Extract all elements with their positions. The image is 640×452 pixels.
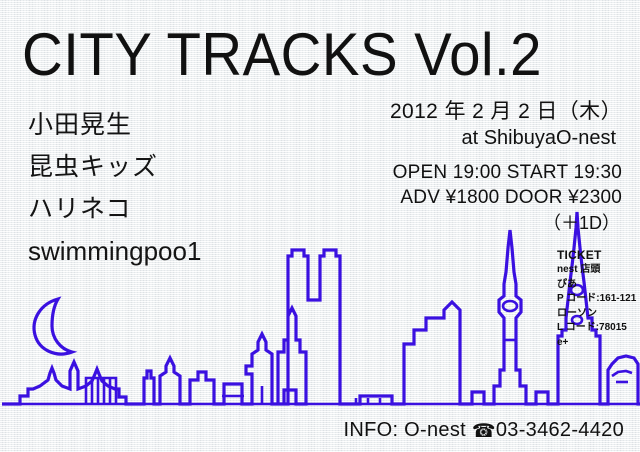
- list-item: ハリネコ: [28, 188, 328, 230]
- ticket-code: P コード:161-121: [557, 292, 640, 307]
- event-venue: at ShibuyaO-nest: [390, 125, 622, 152]
- event-drink-note: （＋1D）: [393, 210, 622, 236]
- ticket-outlet: e+: [557, 336, 640, 351]
- page-title: CITY TRACKS Vol.2: [22, 24, 542, 86]
- event-date: 2012 年 2 月 2 日（木）: [390, 98, 622, 125]
- footer-contact: INFO: O-nest ☎03-3462-4420: [344, 418, 625, 444]
- skyline-low-rise: [222, 396, 380, 404]
- skyline-tower-rings: [503, 301, 517, 340]
- event-prices: ADV ¥1800 DOOR ¥2300: [393, 185, 622, 210]
- event-price-block: OPEN 19:00 START 19:30 ADV ¥1800 DOOR ¥2…: [393, 160, 622, 236]
- ticket-info-block: TICKET nest 店頭 ぴあ P コード:161-121 ローソン L コ…: [557, 248, 640, 350]
- ticket-heading: TICKET: [557, 248, 640, 263]
- ticket-code: L コード:78015: [557, 321, 640, 336]
- telephone-icon: ☎: [472, 421, 496, 442]
- ticket-outlet: nest 店頭: [557, 263, 640, 278]
- info-label: INFO: O-nest: [344, 419, 467, 441]
- skyline-detail-left: [86, 378, 116, 404]
- list-item: 小田晃生: [28, 104, 328, 146]
- artist-lineup: 小田晃生 昆虫キッズ ハリネコ swimmingpoo1: [28, 104, 328, 272]
- list-item: 昆虫キッズ: [28, 146, 328, 188]
- crescent-moon-icon: [34, 299, 72, 354]
- ticket-outlet: ぴあ: [557, 278, 640, 293]
- phone-number: 03-3462-4420: [496, 419, 624, 441]
- event-times: OPEN 19:00 START 19:30: [393, 160, 622, 185]
- event-date-block: 2012 年 2 月 2 日（木） at ShibuyaO-nest: [390, 98, 622, 152]
- event-poster: CITY TRACKS Vol.2 小田晃生 昆虫キッズ ハリネコ swimmi…: [0, 0, 640, 452]
- skyline-dome-building: [612, 371, 632, 382]
- list-item: swimmingpoo1: [28, 230, 328, 272]
- ticket-outlet: ローソン: [557, 307, 640, 322]
